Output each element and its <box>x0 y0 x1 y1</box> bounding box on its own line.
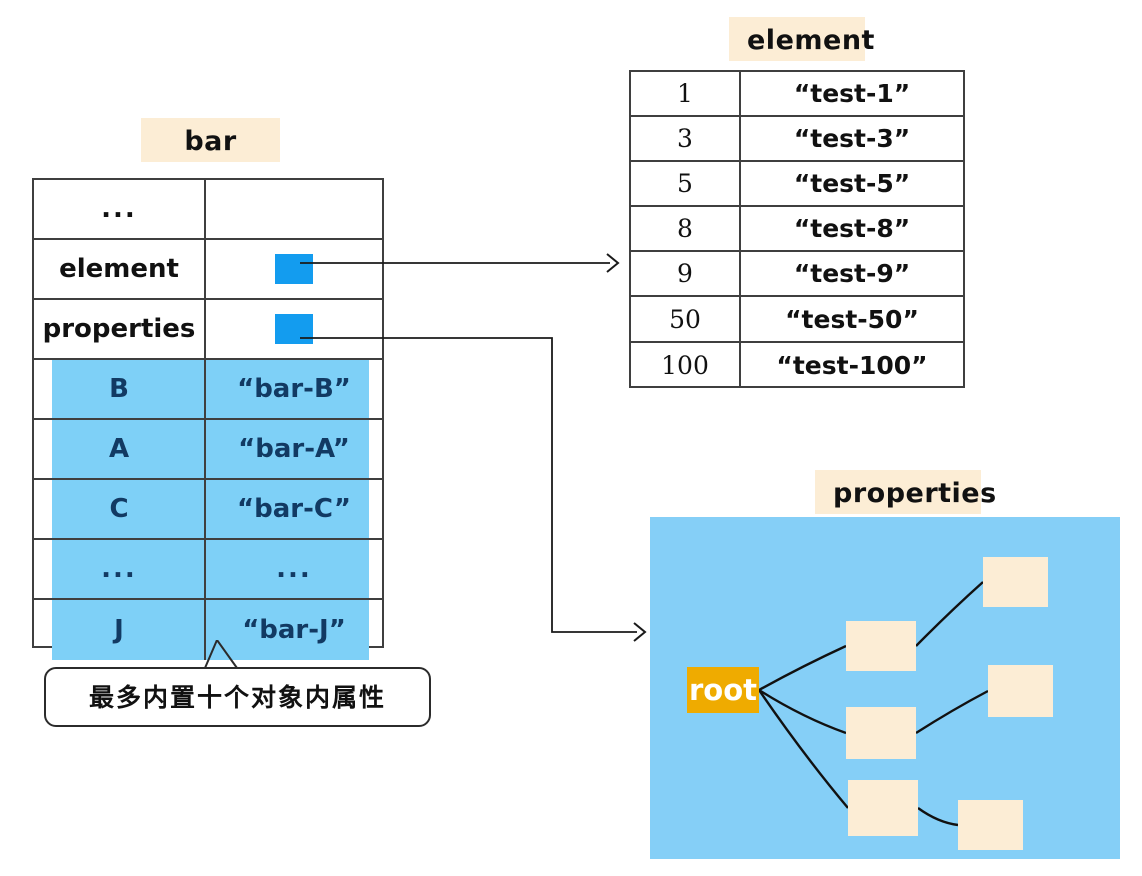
tree-edge <box>918 808 958 825</box>
tree-edge <box>759 690 846 733</box>
element-table-row: 1“test-1” <box>631 72 963 117</box>
bar-table-key-cell: A <box>34 420 206 478</box>
element-table-row: 100“test-100” <box>631 343 963 388</box>
bar-table-value-cell <box>206 300 382 358</box>
bar-table-value-cell: “bar-C” <box>206 480 382 538</box>
bar-table-value-cell: “bar-J” <box>206 600 382 660</box>
element-table-row: 8“test-8” <box>631 207 963 252</box>
element-table-value-cell: “test-5” <box>741 162 963 205</box>
bar-table-value-cell: “bar-B” <box>206 360 382 418</box>
bar-table-key-cell: C <box>34 480 206 538</box>
element-table-row: 9“test-9” <box>631 252 963 297</box>
bar-table-row: B“bar-B” <box>34 360 382 420</box>
tree-node <box>846 621 916 671</box>
element-table-value-cell: “test-100” <box>741 343 963 388</box>
bar-table-key-cell: J <box>34 600 206 660</box>
element-table-index-cell: 1 <box>631 72 741 115</box>
bar-table-key-cell: ... <box>34 180 206 238</box>
element-table-value-cell: “test-9” <box>741 252 963 295</box>
tree-node <box>846 707 916 759</box>
tree-node <box>983 557 1048 607</box>
element-table-index-cell: 100 <box>631 343 741 388</box>
element-table-index-cell: 8 <box>631 207 741 250</box>
tree-node <box>988 665 1053 717</box>
element-table-row: 3“test-3” <box>631 117 963 162</box>
bar-table-row: element <box>34 240 382 300</box>
tree-node <box>848 780 918 836</box>
callout-text: 最多内置十个对象内属性 <box>89 685 386 710</box>
element-table-index-cell: 9 <box>631 252 741 295</box>
bar-table-row: C“bar-C” <box>34 480 382 540</box>
element-table-index-cell: 50 <box>631 297 741 340</box>
bar-table-row: ...... <box>34 540 382 600</box>
tree-edge <box>916 691 988 733</box>
element-table-index-cell: 5 <box>631 162 741 205</box>
bar-table-title: bar <box>141 118 280 162</box>
element-table-value-cell: “test-1” <box>741 72 963 115</box>
bar-table-value-cell <box>206 180 382 238</box>
element-table-value-cell: “test-3” <box>741 117 963 160</box>
tree-edge <box>916 582 983 646</box>
bar-table-row: properties <box>34 300 382 360</box>
element-table-row: 50“test-50” <box>631 297 963 342</box>
bar-table: ...elementpropertiesB“bar-B”A“bar-A”C“ba… <box>32 178 384 648</box>
tree-edge <box>759 646 846 690</box>
bar-table-value-cell: “bar-A” <box>206 420 382 478</box>
properties-panel: root <box>650 517 1120 859</box>
element-table-value-cell: “test-50” <box>741 297 963 340</box>
bar-table-row: ... <box>34 180 382 240</box>
element-table-title: element <box>729 17 865 61</box>
tree-root-node: root <box>687 667 759 713</box>
bar-table-key-cell: ... <box>34 540 206 598</box>
callout-box: 最多内置十个对象内属性 <box>44 667 431 727</box>
properties-panel-title: properties <box>815 470 981 514</box>
bar-table-row: J“bar-J” <box>34 600 382 660</box>
bar-table-key-cell: B <box>34 360 206 418</box>
element-table: 1“test-1”3“test-3”5“test-5”8“test-8”9“te… <box>629 70 965 388</box>
bar-table-key-cell: properties <box>34 300 206 358</box>
bar-table-value-cell: ... <box>206 540 382 598</box>
bar-table-key-cell: element <box>34 240 206 298</box>
pointer-swatch-icon <box>275 314 313 344</box>
bar-table-row: A“bar-A” <box>34 420 382 480</box>
element-table-index-cell: 3 <box>631 117 741 160</box>
tree-edge <box>759 690 848 808</box>
tree-node <box>958 800 1023 850</box>
element-table-value-cell: “test-8” <box>741 207 963 250</box>
pointer-swatch-icon <box>275 254 313 284</box>
element-table-row: 5“test-5” <box>631 162 963 207</box>
bar-table-value-cell <box>206 240 382 298</box>
